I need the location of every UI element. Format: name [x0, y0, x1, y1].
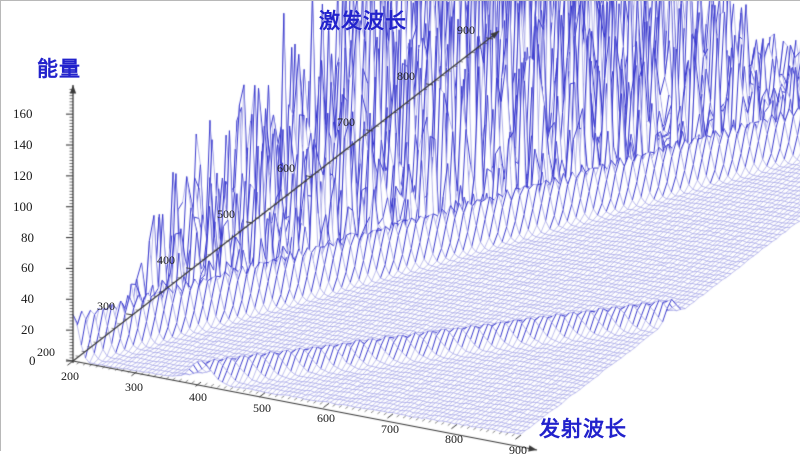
- emission-tick-800: 800: [445, 432, 463, 447]
- energy-tick-20: 20: [21, 322, 34, 338]
- energy-tick-140: 140: [13, 137, 33, 153]
- energy-tick-100: 100: [13, 199, 33, 215]
- excitation-tick-200: 200: [37, 345, 55, 360]
- excitation-tick-500: 500: [217, 207, 235, 222]
- energy-tick-60: 60: [21, 260, 34, 276]
- emission-tick-600: 600: [317, 411, 335, 426]
- emission-tick-200: 200: [61, 369, 79, 384]
- excitation-axis-label: 激发波长: [319, 5, 407, 35]
- emission-tick-300: 300: [125, 380, 143, 395]
- energy-tick-80: 80: [21, 230, 34, 246]
- energy-tick-0: 0: [29, 353, 36, 369]
- energy-tick-120: 120: [13, 168, 33, 184]
- emission-tick-700: 700: [381, 422, 399, 437]
- plot-container: 能量 激发波长 发射波长 020406080100120140160 20030…: [0, 0, 800, 451]
- energy-axis-label: 能量: [37, 53, 81, 83]
- emission-tick-400: 400: [189, 390, 207, 405]
- excitation-tick-800: 800: [397, 69, 415, 84]
- energy-tick-40: 40: [21, 291, 34, 307]
- excitation-tick-300: 300: [97, 299, 115, 314]
- emission-axis-label: 发射波长: [539, 413, 627, 443]
- excitation-tick-700: 700: [337, 115, 355, 130]
- energy-tick-160: 160: [13, 106, 33, 122]
- excitation-tick-600: 600: [277, 161, 295, 176]
- excitation-tick-900: 900: [457, 23, 475, 38]
- emission-tick-500: 500: [253, 401, 271, 416]
- excitation-tick-400: 400: [157, 253, 175, 268]
